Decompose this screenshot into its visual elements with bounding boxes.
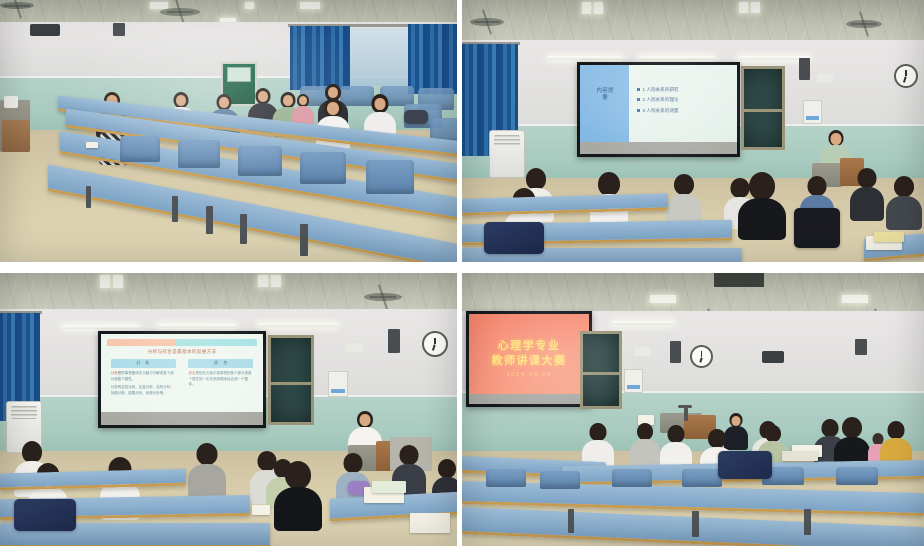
photo-competition-title-slide-wide-view: 心理学专业 教师讲课大赛 2024.08.29 — [462, 273, 924, 546]
wall-clock-icon — [690, 345, 713, 368]
speaker-icon — [670, 341, 681, 363]
chalkboard — [580, 331, 622, 409]
slide-column-extra: 分析有定性分析、定量分析、结构分析、功能分析、因果分析、系统分析等。 — [111, 385, 176, 397]
ceiling-fan-icon — [470, 18, 504, 26]
window-curtain — [290, 26, 350, 90]
person — [666, 174, 702, 224]
person — [630, 423, 660, 465]
projector-icon — [762, 351, 784, 363]
ceiling-fan-icon — [0, 2, 34, 9]
person — [834, 417, 870, 467]
slide-title-line2: 教师讲课大赛 — [469, 352, 589, 368]
photo-collage: 内容提要 1 人际关系的研究 2 人际关系的理论 3 人际关系的测量 — [0, 0, 924, 546]
ceiling-fan-icon — [160, 8, 200, 16]
slide-column-text: 综合是指在头脑中把事物的各个部分或各个属性按一定关系和顺序结合成一个整体。 — [188, 371, 253, 389]
slide-column-heading: 分 析 — [111, 359, 176, 368]
slide-bullets: 1 人际关系的研究 2 人际关系的理论 3 人际关系的测量 — [637, 85, 728, 117]
projection-screen: 分析与综合是最基本的思维方法 分 析 分析是把事物整体在头脑中分解成各个部分或各… — [98, 331, 266, 428]
person — [886, 176, 922, 228]
photo-presenter-with-analysis-synthesis-slide: 分析与综合是最基本的思维方法 分 析 分析是把事物整体在头脑中分解成各个部分或各… — [0, 273, 457, 546]
slide-vertical-title: 内容提要 — [594, 88, 616, 102]
speaker-icon — [388, 329, 400, 353]
photo-presenter-with-content-outline-slide: 内容提要 1 人际关系的研究 2 人际关系的理论 3 人际关系的测量 — [462, 0, 924, 262]
person — [660, 425, 692, 469]
person — [740, 172, 784, 234]
projector-icon — [30, 24, 60, 36]
speaker-icon — [855, 339, 867, 355]
projection-screen: 内容提要 1 人际关系的研究 2 人际关系的理论 3 人际关系的测量 — [577, 62, 740, 157]
chalkboard — [741, 66, 785, 150]
slide-column-heading: 综 合 — [188, 359, 253, 368]
ceiling-fan-icon — [846, 20, 882, 28]
photo-lecture-hall-audience-left-view — [0, 0, 457, 262]
slide-title: 分析与综合是最基本的思维方法 — [111, 349, 254, 355]
chalkboard — [268, 335, 314, 425]
projection-screen: 心理学专业 教师讲课大赛 2024.08.29 — [466, 311, 592, 407]
slide-date: 2024.08.29 — [469, 372, 589, 378]
window-curtain — [408, 24, 457, 94]
ceiling-fan-icon — [364, 293, 402, 301]
speaker-icon — [799, 58, 810, 80]
wall-clock-icon — [894, 64, 918, 88]
slide-column-text: 分析是把事物整体在头脑中分解成各个部分或各个属性。 — [111, 371, 176, 383]
person — [276, 461, 320, 523]
person — [850, 168, 884, 218]
person — [188, 443, 226, 495]
wall-clock-icon — [422, 331, 448, 357]
speaker-icon — [113, 23, 125, 36]
